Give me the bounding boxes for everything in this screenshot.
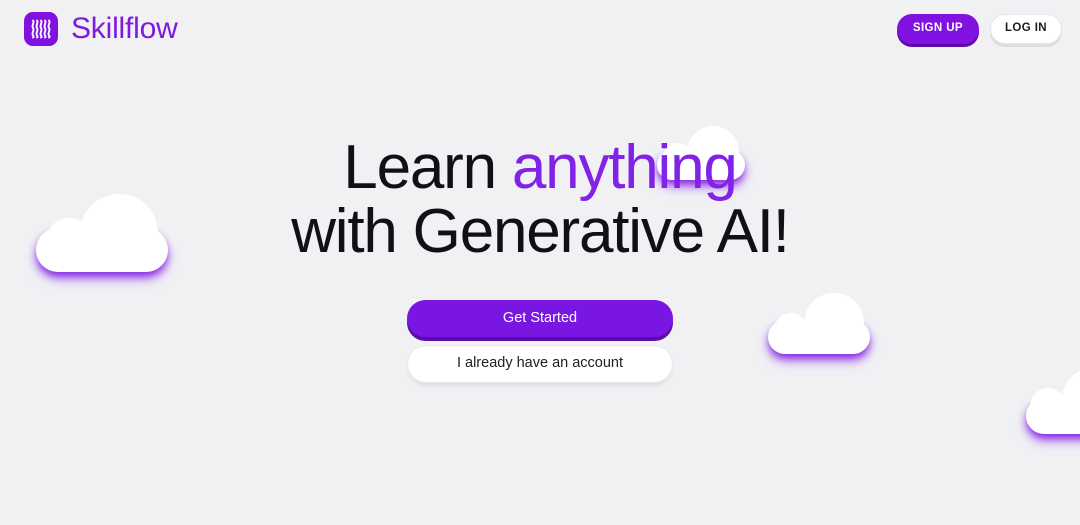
cloud-body-cover [1028, 398, 1080, 430]
get-started-button[interactable]: Get Started [407, 300, 673, 337]
header-actions: SIGN UP LOG IN [897, 14, 1062, 45]
headline-text-accent: anything [512, 133, 737, 202]
page-title: Learn anything with Generative AI! [0, 136, 1080, 265]
brand-name: Skillflow [71, 14, 178, 44]
brand-logo-link[interactable]: Skillflow [24, 12, 178, 46]
wavy-lines-logo-icon [24, 12, 58, 46]
headline-text-plain: Learn [343, 133, 512, 202]
landing-page: Skillflow SIGN UP LOG IN Learn anything … [0, 0, 1080, 525]
cloud-base [1026, 398, 1080, 434]
log-in-button[interactable]: LOG IN [990, 14, 1062, 45]
cloud-puff-small [1030, 388, 1066, 424]
headline-line-1: Learn anything [0, 136, 1080, 200]
cta-group: Get Started I already have an account [0, 300, 1080, 383]
sign-up-button[interactable]: SIGN UP [897, 14, 979, 45]
headline-line-2: with Generative AI! [0, 200, 1080, 264]
site-header: Skillflow SIGN UP LOG IN [0, 0, 1080, 58]
hero-section: Learn anything with Generative AI! [0, 136, 1080, 265]
already-have-account-button[interactable]: I already have an account [407, 345, 673, 382]
